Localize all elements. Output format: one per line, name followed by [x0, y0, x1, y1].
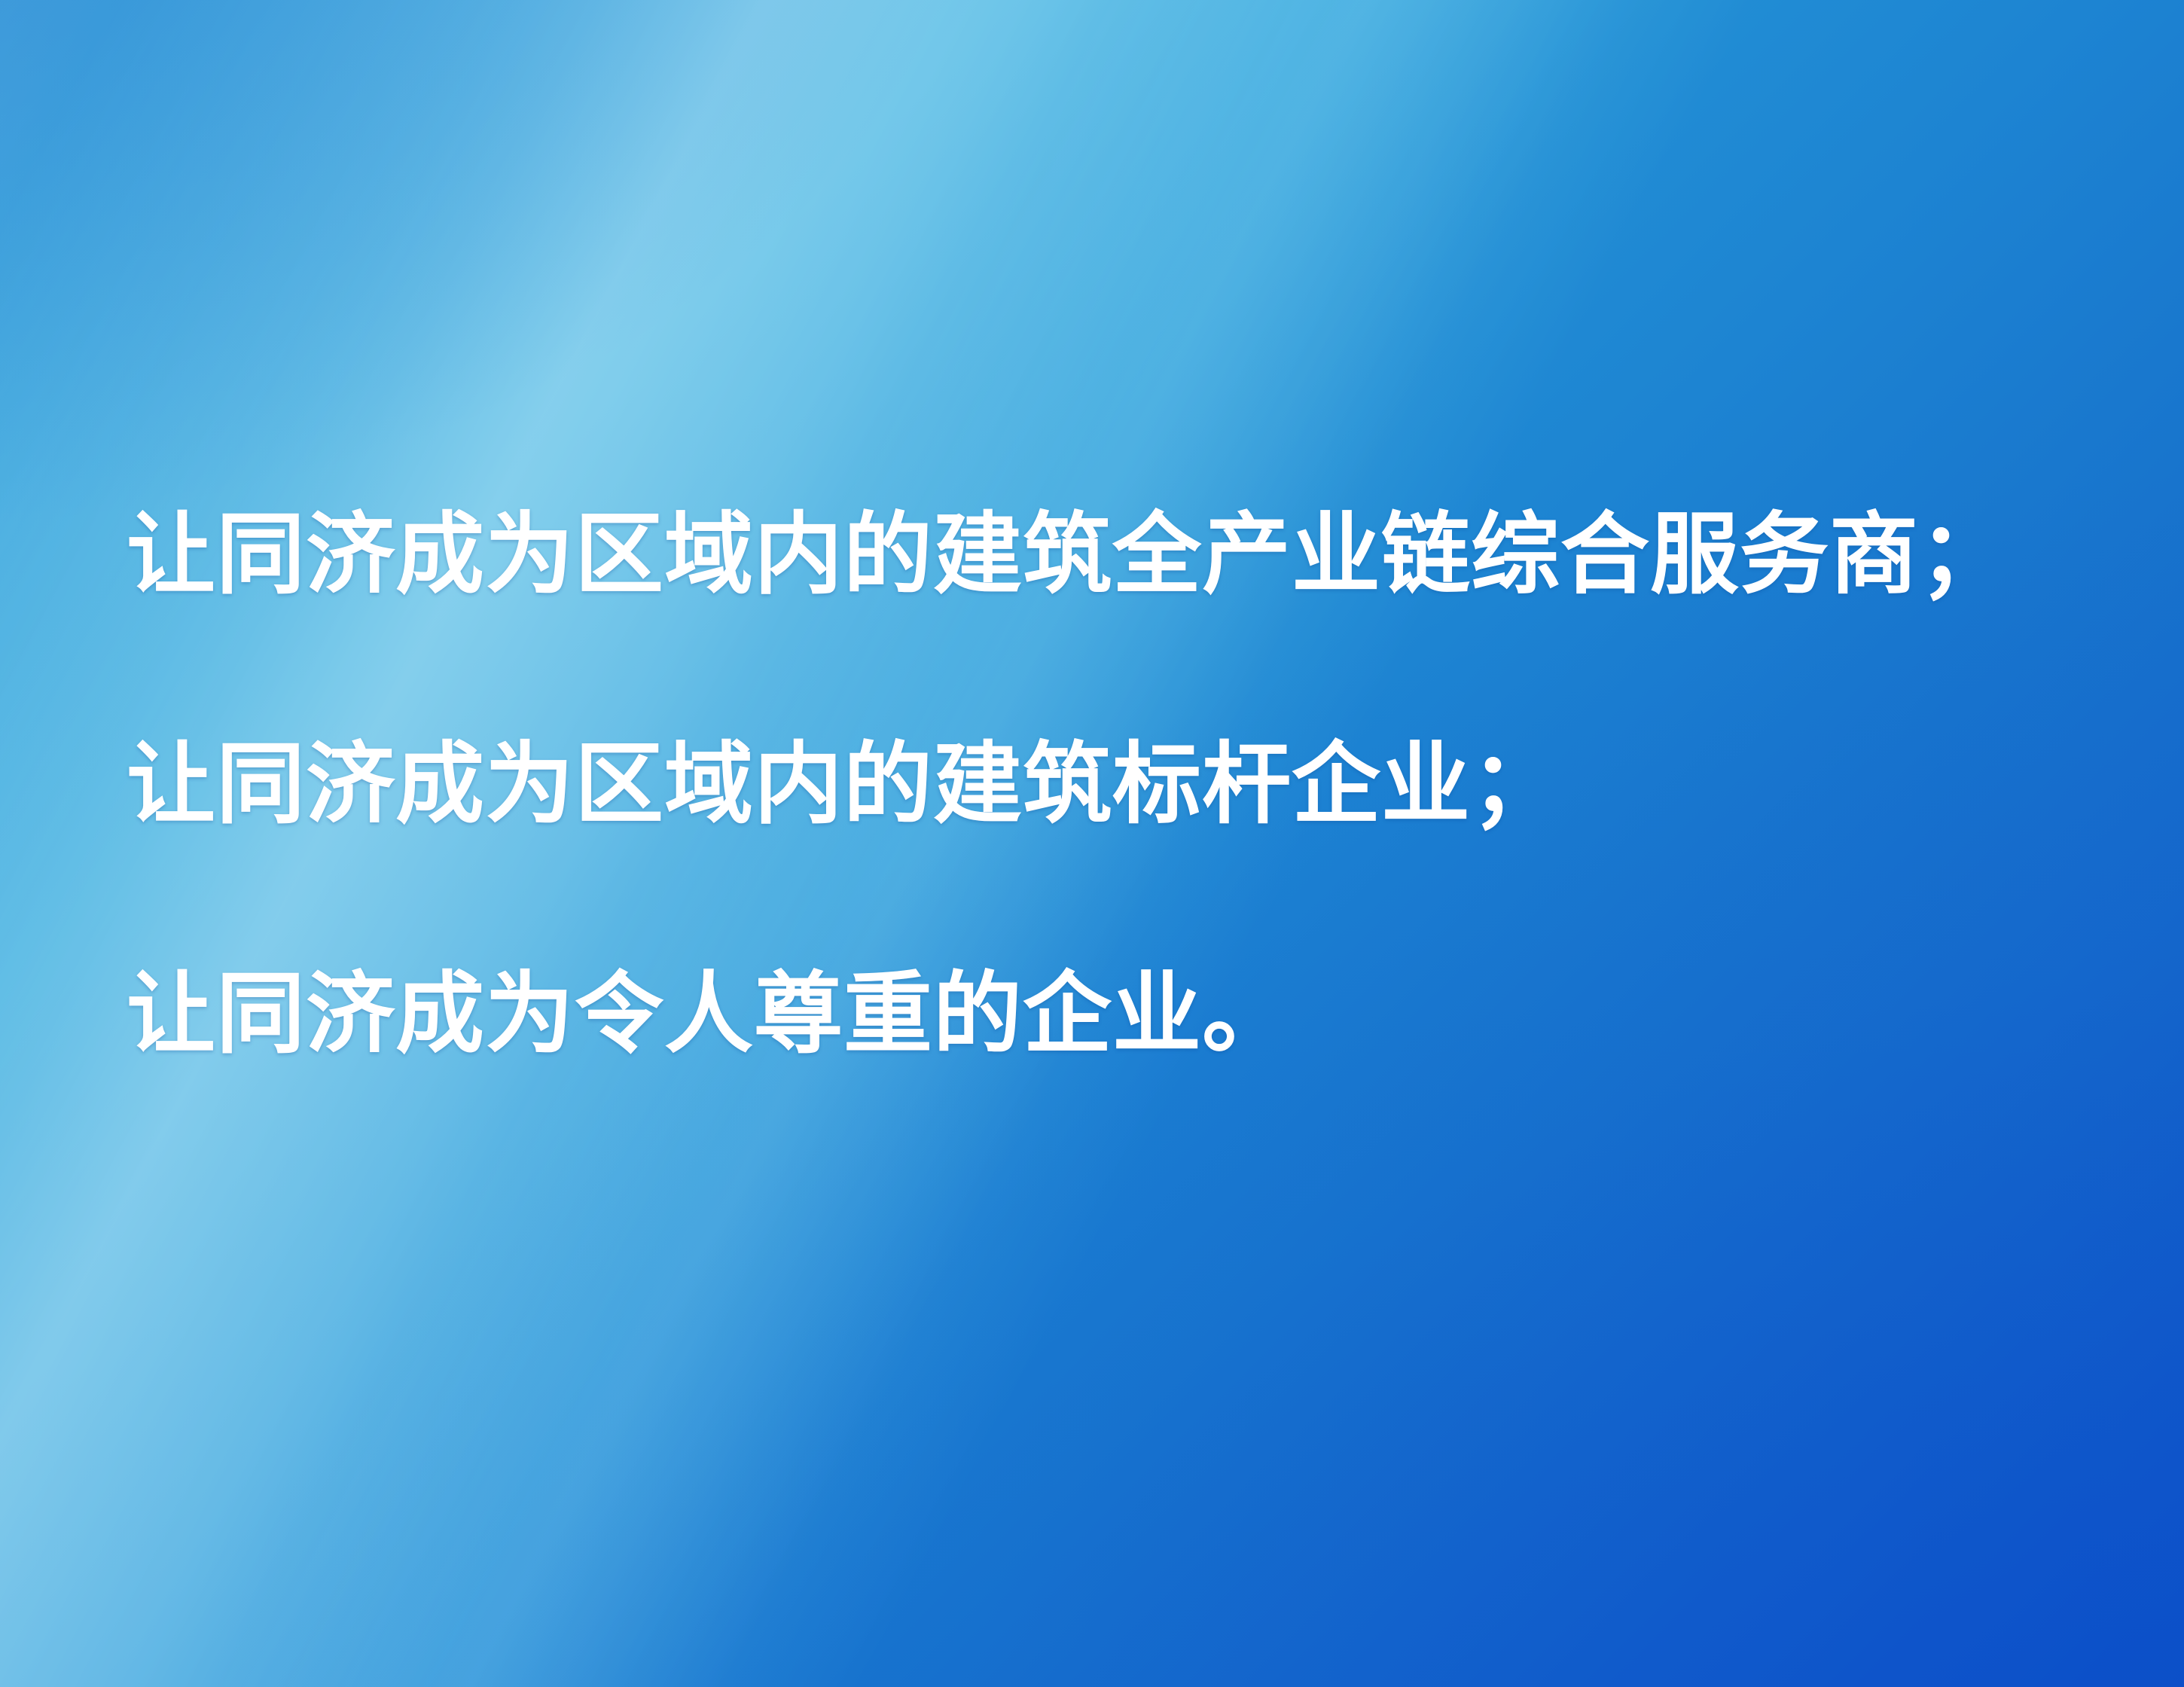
vision-statement-line-3: 让同济成为令人尊重的企业。 — [127, 900, 2115, 1130]
vision-statement-line-1: 让同济成为区域内的建筑全产业链综合服务商； — [127, 441, 2115, 670]
vision-statement-line-2: 让同济成为区域内的建筑标杆企业； — [127, 670, 2115, 900]
presentation-slide: 让同济成为区域内的建筑全产业链综合服务商； 让同济成为区域内的建筑标杆企业； 让… — [0, 0, 2184, 1687]
vision-statement-block: 让同济成为区域内的建筑全产业链综合服务商； 让同济成为区域内的建筑标杆企业； 让… — [127, 441, 2115, 1130]
